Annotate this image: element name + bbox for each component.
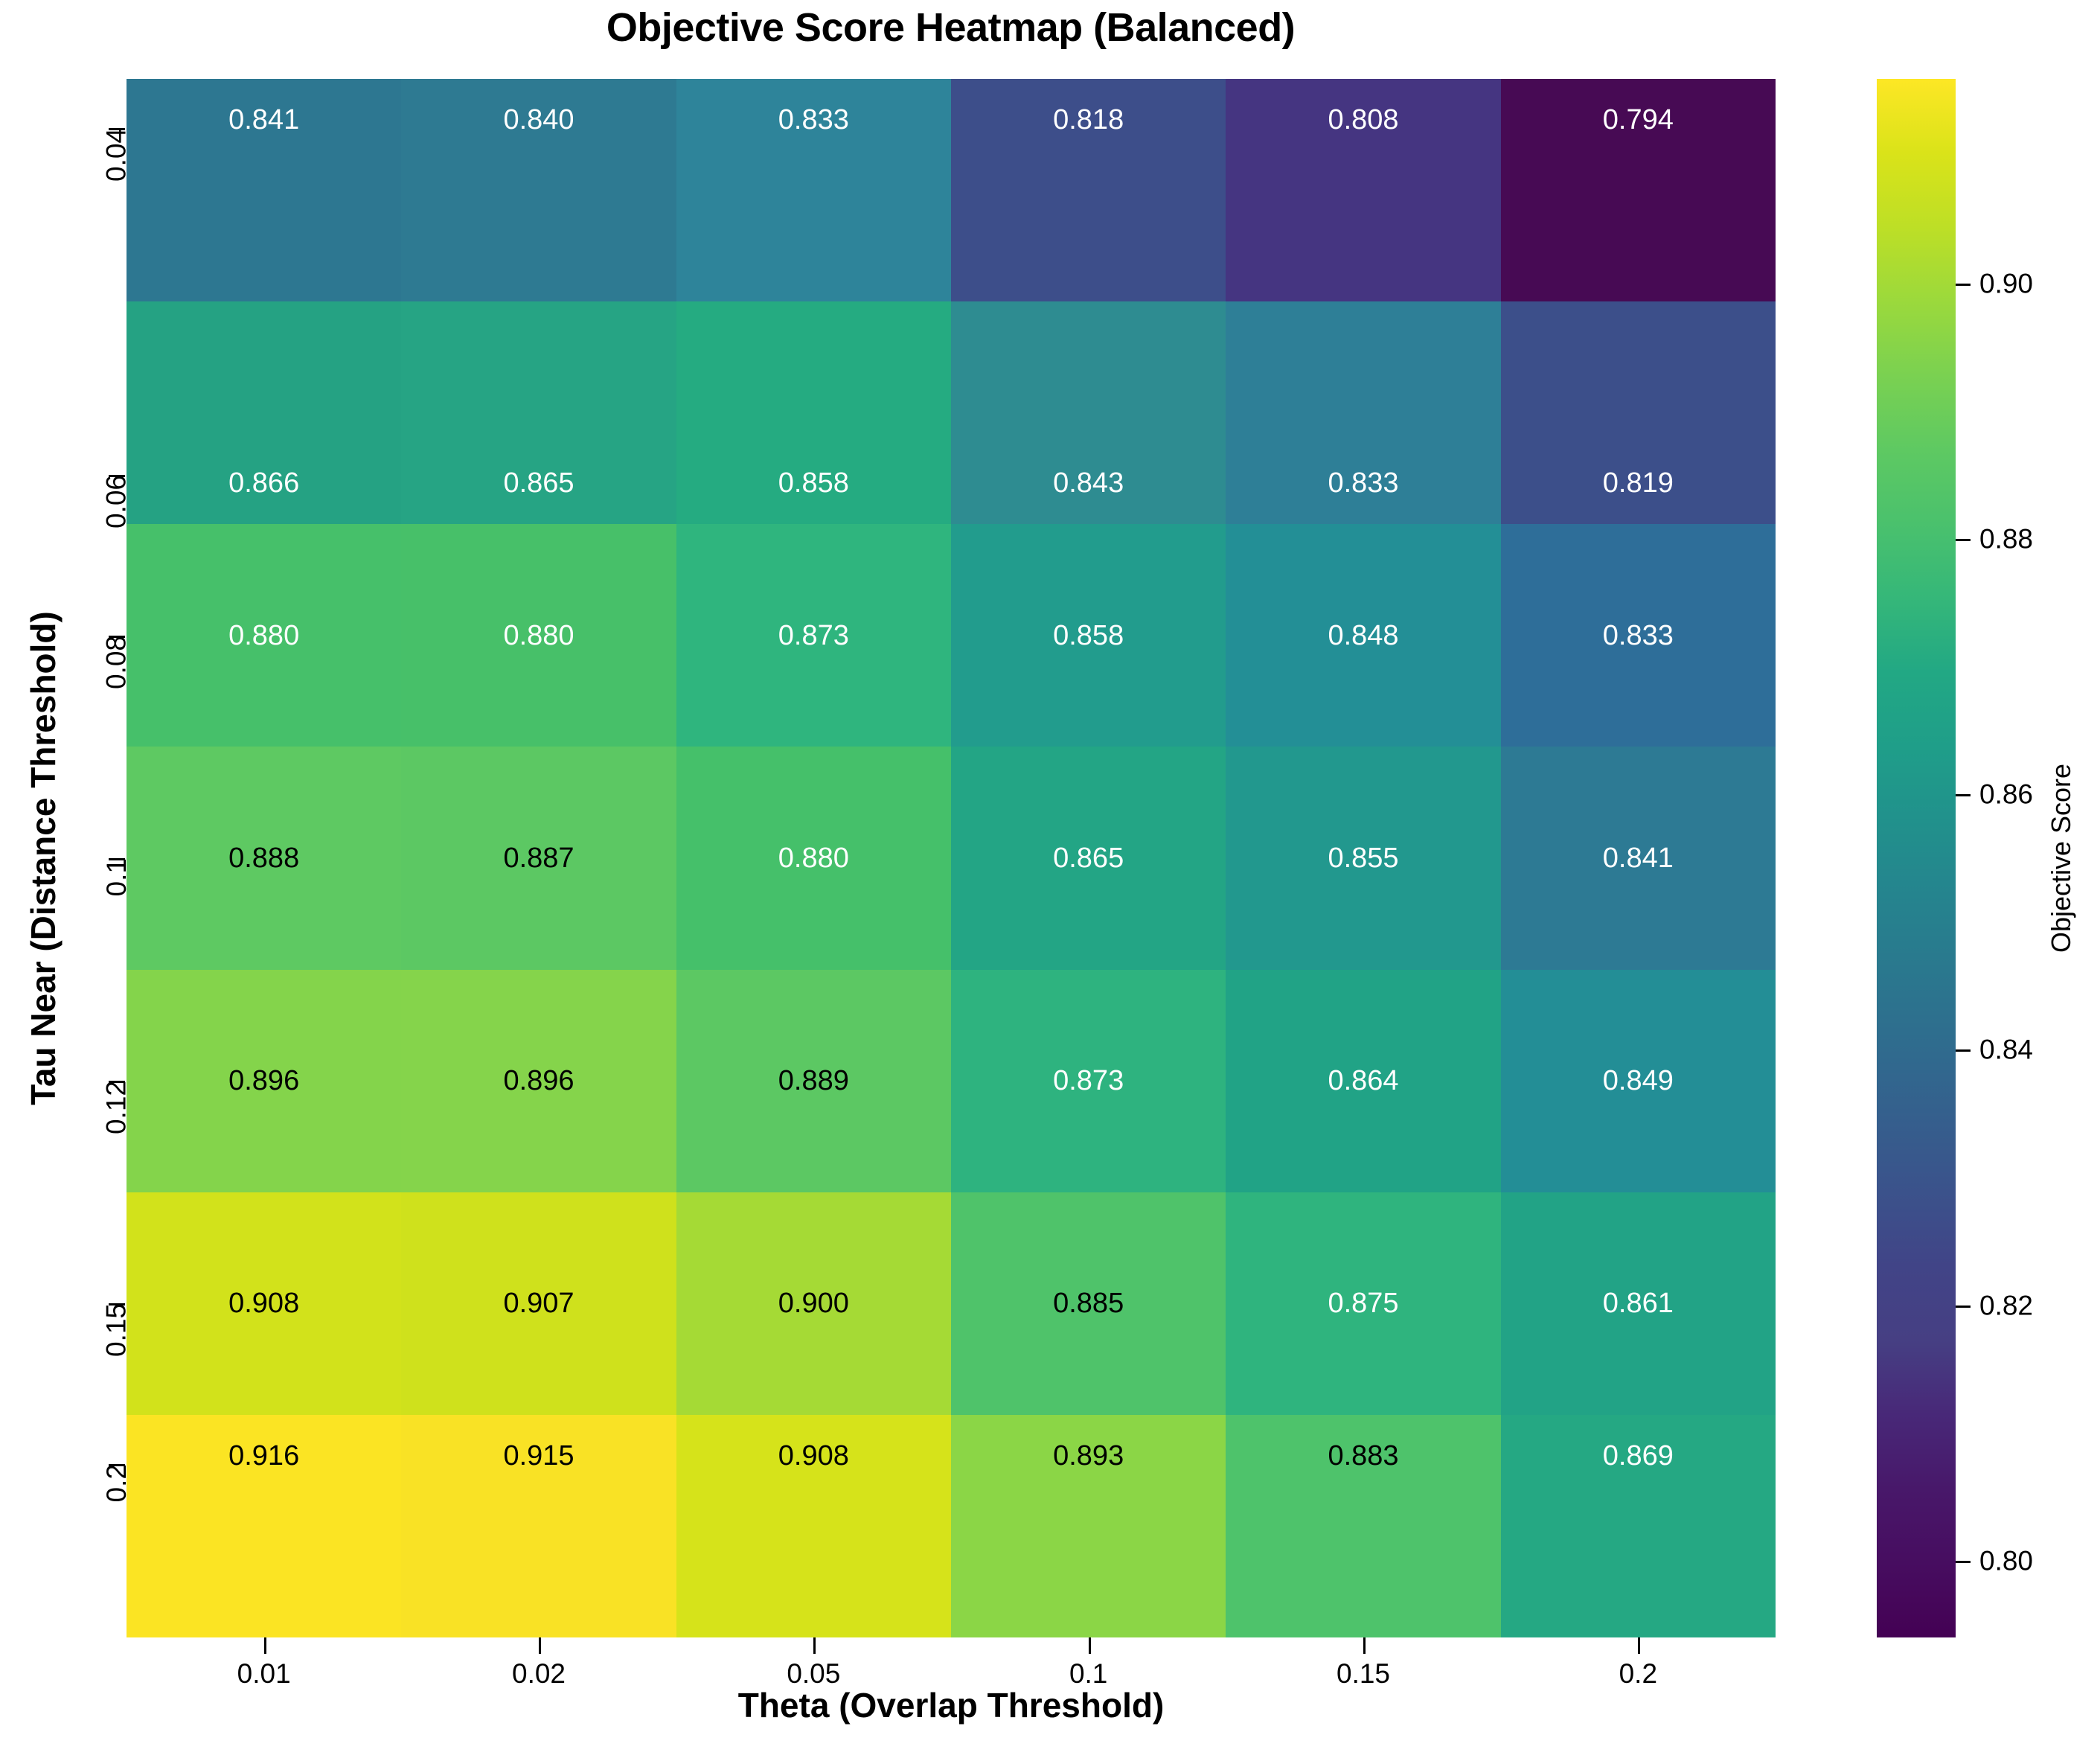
heatmap-cell: 0.873 (951, 970, 1226, 1192)
colorbar-tick (1956, 539, 1971, 541)
heatmap-cell: 0.888 (127, 747, 401, 969)
heatmap-cell: 0.864 (1226, 970, 1500, 1192)
heatmap-cell-value: 0.833 (676, 106, 951, 134)
heatmap-cell: 0.861 (1501, 1192, 1776, 1415)
heatmap-cell-value: 0.869 (1501, 1442, 1776, 1470)
x-axis-tick-label: 0.1 (1069, 1660, 1107, 1687)
heatmap-cell-value: 0.908 (676, 1442, 951, 1470)
y-axis-tick-label: 0.1 (103, 858, 130, 896)
heatmap-cell-value: 0.843 (951, 469, 1226, 497)
x-axis-tick-label: 0.01 (237, 1660, 291, 1687)
heatmap-cell-value: 0.840 (401, 106, 676, 134)
heatmap-cell-value: 0.818 (951, 106, 1226, 134)
heatmap-cell: 0.889 (676, 970, 951, 1192)
heatmap-cell-value: 0.833 (1501, 621, 1776, 650)
colorbar-title: Objective Score (2039, 79, 2084, 1637)
heatmap-cell-value: 0.849 (1501, 1067, 1776, 1095)
heatmap-cell: 0.869 (1501, 1415, 1776, 1637)
x-axis-tick (1363, 1637, 1366, 1654)
colorbar-tick (1956, 794, 1971, 796)
heatmap-grid: 0.8410.8400.8330.8180.8080.7940.8660.865… (127, 79, 1776, 1637)
heatmap-cell: 0.908 (127, 1192, 401, 1415)
heatmap-cell: 0.893 (951, 1415, 1226, 1637)
heatmap-cell-value: 0.873 (676, 621, 951, 650)
heatmap-cell-value: 0.819 (1501, 469, 1776, 497)
heatmap-cell: 0.841 (127, 79, 401, 301)
heatmap-cell-value: 0.915 (401, 1442, 676, 1470)
heatmap-cell-value: 0.861 (1501, 1289, 1776, 1317)
colorbar-gradient (1877, 79, 1956, 1637)
heatmap-cell: 0.818 (951, 79, 1226, 301)
heatmap-plot-area: 0.8410.8400.8330.8180.8080.7940.8660.865… (127, 79, 1776, 1637)
heatmap-cell-value: 0.887 (401, 844, 676, 872)
heatmap-cell: 0.880 (401, 524, 676, 747)
heatmap-cell: 0.916 (127, 1415, 401, 1637)
heatmap-cell: 0.880 (676, 747, 951, 969)
heatmap-cell-value: 0.858 (951, 621, 1226, 650)
heatmap-cell-value: 0.848 (1226, 621, 1500, 650)
x-axis-tick (1638, 1637, 1640, 1654)
x-axis-tick (813, 1637, 816, 1654)
heatmap-figure: Objective Score Heatmap (Balanced) Tau N… (0, 0, 2100, 1764)
heatmap-cell: 0.833 (1501, 524, 1776, 747)
heatmap-cell-value: 0.855 (1226, 844, 1500, 872)
colorbar-tick-label: 0.84 (1979, 1036, 2033, 1064)
heatmap-cell: 0.865 (401, 301, 676, 524)
heatmap-cell-value: 0.885 (951, 1289, 1226, 1317)
heatmap-cell: 0.880 (127, 524, 401, 747)
heatmap-cell-value: 0.865 (951, 844, 1226, 872)
heatmap-cell-value: 0.880 (127, 621, 401, 650)
heatmap-cell: 0.873 (676, 524, 951, 747)
heatmap-cell: 0.896 (401, 970, 676, 1192)
heatmap-cell-value: 0.864 (1226, 1067, 1500, 1095)
heatmap-cell: 0.840 (401, 79, 676, 301)
heatmap-cell: 0.907 (401, 1192, 676, 1415)
heatmap-cell-value: 0.841 (1501, 844, 1776, 872)
x-axis-tick (1089, 1637, 1091, 1654)
heatmap-cell: 0.915 (401, 1415, 676, 1637)
heatmap-cell: 0.908 (676, 1415, 951, 1637)
heatmap-cell-value: 0.866 (127, 469, 401, 497)
y-axis-tick-label: 0.2 (103, 1464, 130, 1502)
heatmap-cell: 0.858 (951, 524, 1226, 747)
x-axis-title: Theta (Overlap Threshold) (127, 1688, 1776, 1722)
heatmap-cell-value: 0.908 (127, 1289, 401, 1317)
colorbar-title-text: Objective Score (2048, 764, 2075, 953)
heatmap-cell-value: 0.883 (1226, 1442, 1500, 1470)
x-axis-tick-label: 0.2 (1619, 1660, 1657, 1687)
colorbar-tick-label: 0.90 (1979, 269, 2033, 297)
y-axis-tick-label: 0.08 (103, 636, 130, 689)
x-axis-tick-label: 0.15 (1336, 1660, 1390, 1687)
heatmap-cell: 0.875 (1226, 1192, 1500, 1415)
colorbar-tick (1956, 1561, 1971, 1563)
heatmap-cell: 0.843 (951, 301, 1226, 524)
x-axis-tick-label: 0.02 (512, 1660, 566, 1687)
heatmap-cell: 0.794 (1501, 79, 1776, 301)
heatmap-cell: 0.841 (1501, 747, 1776, 969)
heatmap-cell: 0.848 (1226, 524, 1500, 747)
heatmap-cell: 0.896 (127, 970, 401, 1192)
heatmap-cell-value: 0.889 (676, 1067, 951, 1095)
colorbar-tick (1956, 1306, 1971, 1308)
heatmap-cell-value: 0.794 (1501, 106, 1776, 134)
heatmap-cell: 0.900 (676, 1192, 951, 1415)
heatmap-cell: 0.849 (1501, 970, 1776, 1192)
y-axis-tick-label: 0.04 (103, 128, 130, 182)
heatmap-cell-value: 0.907 (401, 1289, 676, 1317)
y-axis-tick-label: 0.15 (103, 1303, 130, 1357)
heatmap-cell-value: 0.896 (401, 1067, 676, 1095)
heatmap-cell-value: 0.880 (676, 844, 951, 872)
colorbar-tick-label: 0.88 (1979, 525, 2033, 552)
heatmap-cell: 0.855 (1226, 747, 1500, 969)
x-axis-tick-label: 0.05 (787, 1660, 840, 1687)
heatmap-cell-value: 0.841 (127, 106, 401, 134)
heatmap-cell-value: 0.875 (1226, 1289, 1500, 1317)
colorbar-tick-label: 0.82 (1979, 1291, 2033, 1319)
colorbar[interactable]: 0.800.820.840.860.880.90 (1877, 79, 1956, 1637)
heatmap-cell: 0.808 (1226, 79, 1500, 301)
heatmap-cell-value: 0.880 (401, 621, 676, 650)
heatmap-cell-value: 0.808 (1226, 106, 1500, 134)
heatmap-cell: 0.833 (1226, 301, 1500, 524)
colorbar-tick-label: 0.86 (1979, 781, 2033, 808)
y-axis-title-text: Tau Near (Distance Threshold) (26, 611, 60, 1105)
heatmap-cell: 0.865 (951, 747, 1226, 969)
heatmap-cell-value: 0.888 (127, 844, 401, 872)
heatmap-cell: 0.858 (676, 301, 951, 524)
heatmap-cell: 0.883 (1226, 1415, 1500, 1637)
heatmap-cell: 0.887 (401, 747, 676, 969)
y-axis-tick-label: 0.06 (103, 475, 130, 528)
colorbar-tick (1956, 284, 1971, 286)
x-axis-tick (264, 1637, 266, 1654)
heatmap-cell-value: 0.916 (127, 1442, 401, 1470)
heatmap-cell-value: 0.858 (676, 469, 951, 497)
heatmap-cell: 0.885 (951, 1192, 1226, 1415)
heatmap-cell-value: 0.873 (951, 1067, 1226, 1095)
colorbar-tick-label: 0.80 (1979, 1547, 2033, 1575)
heatmap-cell: 0.866 (127, 301, 401, 524)
heatmap-cell: 0.819 (1501, 301, 1776, 524)
y-axis-title: Tau Near (Distance Threshold) (22, 79, 64, 1637)
x-axis-tick (539, 1637, 541, 1654)
heatmap-cell-value: 0.893 (951, 1442, 1226, 1470)
y-axis-tick-label: 0.12 (103, 1081, 130, 1134)
heatmap-cell-value: 0.896 (127, 1067, 401, 1095)
colorbar-tick (1956, 1049, 1971, 1052)
heatmap-cell-value: 0.900 (676, 1289, 951, 1317)
heatmap-cell: 0.833 (676, 79, 951, 301)
page-title: Objective Score Heatmap (Balanced) (127, 7, 1775, 48)
heatmap-cell-value: 0.865 (401, 469, 676, 497)
heatmap-cell-value: 0.833 (1226, 469, 1500, 497)
